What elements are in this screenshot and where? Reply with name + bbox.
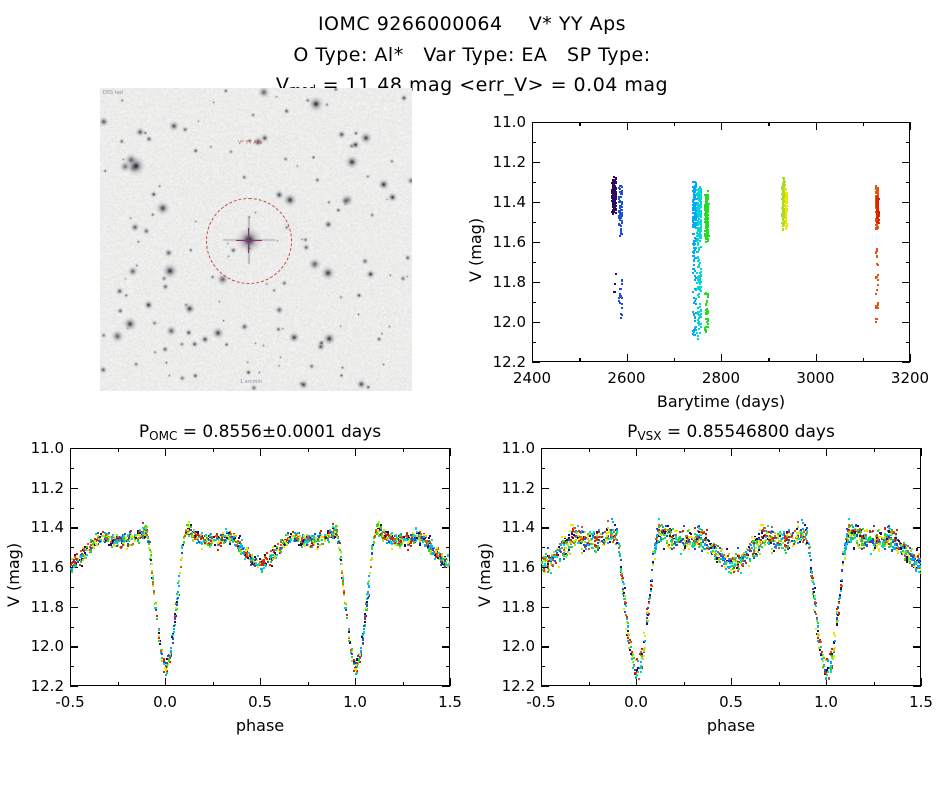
x-tick-label: 1.0 bbox=[343, 693, 367, 711]
sky-corner-label: DSS red bbox=[103, 90, 123, 96]
x-major-tick bbox=[921, 448, 922, 456]
phase-omc-data-points bbox=[70, 448, 450, 686]
x-tick-label: 0.5 bbox=[248, 693, 272, 711]
x-tick-label: 0.0 bbox=[153, 693, 177, 711]
x-major-tick bbox=[910, 122, 911, 130]
barytime-plot: 2400260028003000320011.011.211.411.611.8… bbox=[532, 122, 944, 472]
y-major-tick bbox=[442, 686, 450, 687]
phase-vsx-title: PVSX = 0.85546800 days bbox=[541, 422, 921, 443]
x-major-tick bbox=[450, 448, 451, 456]
y-major-tick bbox=[70, 686, 78, 687]
x-tick-label: -0.5 bbox=[526, 693, 555, 711]
phase-vsx-plot: PVSX = 0.85546800 days-0.50.00.51.01.511… bbox=[541, 448, 944, 796]
y-tick-label: 11.4 bbox=[493, 518, 535, 536]
phase-omc-plot: POMC = 0.8556±0.0001 days-0.50.00.51.01.… bbox=[70, 448, 590, 796]
x-tick-label: 3000 bbox=[796, 369, 834, 387]
phase-vsx-y-axis-label: V (mag) bbox=[475, 543, 494, 607]
x-tick-label: 1.5 bbox=[438, 693, 462, 711]
star-name: V* YY Aps bbox=[529, 13, 626, 35]
y-tick-label: 12.2 bbox=[484, 353, 526, 371]
x-tick-label: 0.0 bbox=[624, 693, 648, 711]
y-tick-label: 12.0 bbox=[484, 313, 526, 331]
iomc-id: IOMC 9266000064 bbox=[318, 13, 503, 35]
y-tick-label: 11.6 bbox=[493, 558, 535, 576]
x-major-tick bbox=[921, 678, 922, 686]
y-tick-label: 12.2 bbox=[493, 677, 535, 695]
barytime-data-points bbox=[532, 122, 910, 362]
x-tick-label: 1.5 bbox=[909, 693, 933, 711]
page-title: IOMC 9266000064 V* YY Aps bbox=[0, 13, 944, 35]
barytime-x-axis-label: Barytime (days) bbox=[532, 392, 910, 411]
figure-header: IOMC 9266000064 V* YY Aps O Type: Al* Va… bbox=[0, 0, 944, 97]
y-tick-label: 11.8 bbox=[22, 598, 64, 616]
phase-omc-x-axis-label: phase bbox=[70, 716, 450, 735]
y-tick-label: 11.0 bbox=[493, 439, 535, 457]
type-line: O Type: Al* Var Type: EA SP Type: bbox=[0, 44, 944, 66]
y-tick-label: 12.2 bbox=[22, 677, 64, 695]
x-tick-label: 2400 bbox=[513, 369, 551, 387]
y-major-tick bbox=[913, 686, 921, 687]
y-tick-label: 11.4 bbox=[22, 518, 64, 536]
finding-chart-panel: DSS red V* YY Aps 1 arcmin bbox=[100, 88, 412, 391]
phase-omc-title: POMC = 0.8556±0.0001 days bbox=[70, 422, 450, 443]
y-major-tick bbox=[541, 686, 549, 687]
x-tick-label: -0.5 bbox=[55, 693, 84, 711]
barytime-y-axis-label: V (mag) bbox=[466, 218, 485, 282]
x-tick-label: 2800 bbox=[702, 369, 740, 387]
x-tick-label: 1.0 bbox=[814, 693, 838, 711]
y-tick-label: 11.8 bbox=[493, 598, 535, 616]
phase-vsx-x-axis-label: phase bbox=[541, 716, 921, 735]
y-tick-label: 11.2 bbox=[22, 479, 64, 497]
y-tick-label: 11.6 bbox=[22, 558, 64, 576]
x-tick-label: 2600 bbox=[607, 369, 645, 387]
sky-scale-label: 1 arcmin bbox=[240, 379, 262, 385]
x-major-tick bbox=[450, 678, 451, 686]
y-tick-label: 11.0 bbox=[22, 439, 64, 457]
phase-omc-y-axis-label: V (mag) bbox=[4, 543, 23, 607]
x-tick-label: 0.5 bbox=[719, 693, 743, 711]
y-tick-label: 11.0 bbox=[484, 113, 526, 131]
y-major-tick bbox=[902, 362, 910, 363]
y-tick-label: 11.2 bbox=[493, 479, 535, 497]
y-tick-label: 11.4 bbox=[484, 193, 526, 211]
target-aperture-circle bbox=[206, 198, 292, 284]
target-crosshair-horizontal bbox=[236, 240, 262, 241]
phase-vsx-data-points bbox=[541, 448, 921, 686]
y-tick-label: 11.6 bbox=[484, 233, 526, 251]
target-crosshair-vertical bbox=[248, 228, 249, 253]
y-tick-label: 11.8 bbox=[484, 273, 526, 291]
sky-target-note: V* YY Aps bbox=[238, 140, 262, 146]
y-tick-label: 12.0 bbox=[493, 637, 535, 655]
y-major-tick bbox=[532, 362, 540, 363]
x-major-tick bbox=[910, 354, 911, 362]
y-tick-label: 11.2 bbox=[484, 153, 526, 171]
x-tick-label: 3200 bbox=[891, 369, 929, 387]
y-tick-label: 12.0 bbox=[22, 637, 64, 655]
